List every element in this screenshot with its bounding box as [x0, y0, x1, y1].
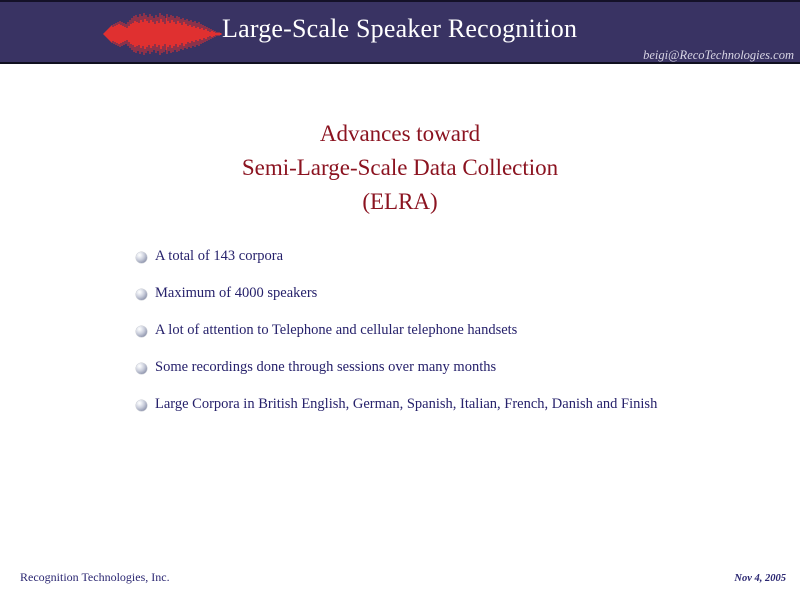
list-item: Maximum of 4000 speakers	[136, 285, 776, 322]
bullet-list: A total of 143 corpora Maximum of 4000 s…	[136, 248, 776, 433]
sphere-bullet-icon	[136, 326, 147, 337]
sphere-bullet-icon	[136, 363, 147, 374]
sphere-bullet-icon	[136, 400, 147, 411]
list-item-label: Large Corpora in British English, German…	[155, 396, 657, 413]
list-item-label: Maximum of 4000 speakers	[155, 285, 317, 302]
presentation-slide: Large-Scale Speaker Recognition beigi@Re…	[0, 0, 800, 600]
audio-waveform-icon	[103, 10, 227, 58]
list-item-label: A total of 143 corpora	[155, 248, 283, 265]
slide-title: Advances toward Semi-Large-Scale Data Co…	[0, 117, 800, 219]
list-item: Some recordings done through sessions ov…	[136, 359, 776, 396]
list-item-label: Some recordings done through sessions ov…	[155, 359, 496, 376]
list-item: Large Corpora in British English, German…	[136, 396, 776, 433]
list-item: A lot of attention to Telephone and cell…	[136, 322, 776, 359]
sphere-bullet-icon	[136, 289, 147, 300]
sphere-bullet-icon	[136, 252, 147, 263]
header-email: beigi@RecoTechnologies.com	[643, 48, 794, 63]
footer-date: Nov 4, 2005	[734, 573, 786, 584]
list-item-label: A lot of attention to Telephone and cell…	[155, 322, 517, 339]
slide-title-line-2: Semi-Large-Scale Data Collection	[0, 151, 800, 185]
footer-company-name: Recognition Technologies, Inc.	[20, 570, 170, 585]
slide-title-line-3: (ELRA)	[0, 185, 800, 219]
slide-title-line-1: Advances toward	[0, 117, 800, 151]
slide-header-band: Large-Scale Speaker Recognition beigi@Re…	[0, 0, 800, 64]
header-title: Large-Scale Speaker Recognition	[222, 14, 577, 44]
list-item: A total of 143 corpora	[136, 248, 776, 285]
